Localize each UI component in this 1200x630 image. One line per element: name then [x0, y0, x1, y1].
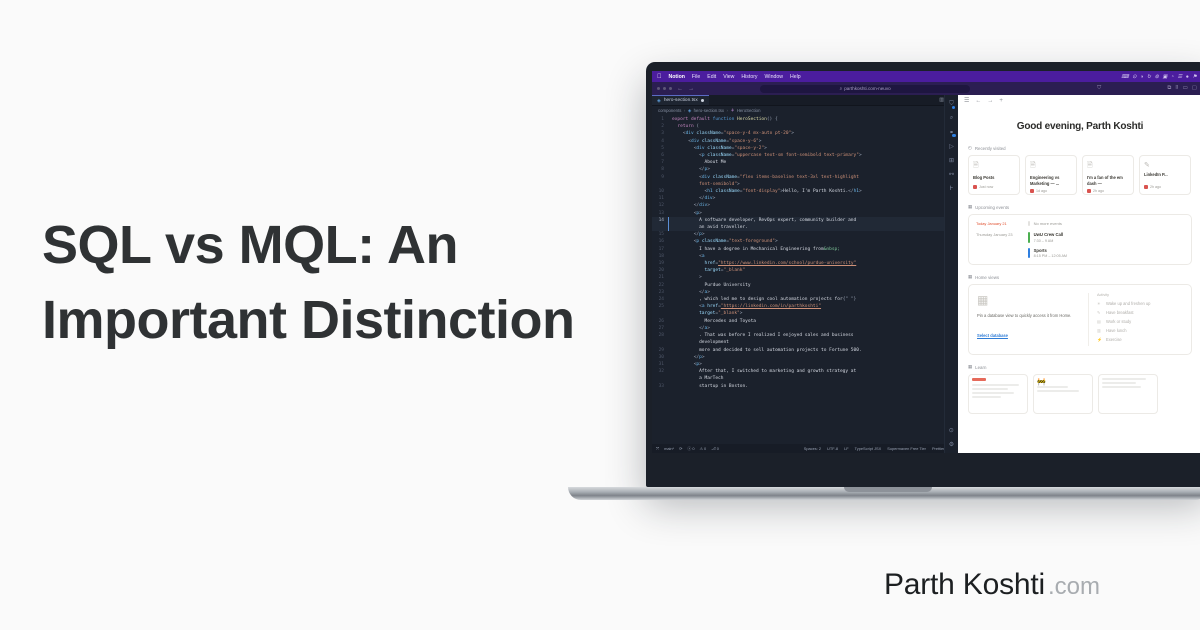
- line-number: 32: [652, 368, 669, 375]
- line-number: 23: [652, 289, 669, 296]
- line-number: 15: [652, 231, 669, 238]
- layout-icon-2[interactable]: ⌷: [1175, 85, 1178, 92]
- notion-greeting: Good evening, Parth Koshti: [968, 121, 1192, 132]
- react-file-icon: ◈: [688, 108, 691, 114]
- line-number: 29: [652, 347, 669, 354]
- event-color-bar: [1028, 248, 1030, 259]
- activity-icon: ⚡: [1097, 337, 1102, 342]
- code-line[interactable]: target="_blank">: [652, 310, 958, 317]
- list-item[interactable]: [1098, 374, 1158, 414]
- code-line-text: <p>: [669, 210, 958, 217]
- url-bar[interactable]: ⌕ parthkoshti.com-neuvo: [760, 85, 970, 93]
- activity-icon: ▥: [1097, 328, 1102, 333]
- editor-side-toolbar[interactable]: ⛉ ⌕ ⚭ ▷ ⊞ ⚯ Ͱ ⊙ ⚙: [944, 95, 958, 453]
- code-line[interactable]: 6 <p className="uppercase text-sm font-s…: [652, 152, 958, 159]
- search-icon[interactable]: ⌕: [950, 115, 953, 122]
- upcoming-events-label: Upcoming events: [975, 205, 1009, 210]
- code-line-text: . That was before I realized I enjoyed s…: [669, 332, 958, 339]
- code-line[interactable]: 18 <a: [652, 253, 958, 260]
- line-number: 11: [652, 195, 669, 202]
- layout-icon-4[interactable]: ▢: [1192, 85, 1197, 92]
- code-line-text: <p className="text-foreground">: [669, 238, 958, 245]
- minimize-icon[interactable]: [663, 87, 666, 90]
- learn-cards: 🚧: [968, 374, 1192, 414]
- line-number: 3: [652, 130, 669, 137]
- back-icon[interactable]: ←: [677, 86, 683, 92]
- page-icon: 🗎: [1087, 161, 1129, 172]
- supermaven-status[interactable]: Supermaven Free Tier: [887, 446, 926, 451]
- code-line[interactable]: 22 Purdue University: [652, 282, 958, 289]
- forward-icon[interactable]: →: [688, 86, 694, 92]
- list-item[interactable]: 🗎 Blog Posts Just now: [968, 155, 1020, 195]
- menu-item-window[interactable]: Window: [765, 74, 783, 80]
- code-line-text: <h1 className="font-display">Hello, I'm …: [669, 188, 958, 195]
- status-bar-right[interactable]: Spaces: 2 UTF-8 LF TypeScript JSX Superm…: [804, 446, 954, 451]
- list-item[interactable]: 🗎 Engineering vs Marketing — ... 1d ago: [1025, 155, 1077, 195]
- code-line[interactable]: 5 <div className="space-y-2">: [652, 145, 958, 152]
- code-line-text: About Me: [669, 159, 958, 166]
- line-number: 2: [652, 123, 669, 130]
- code-line[interactable]: 25 <a href="https://linkedin.com/in/part…: [652, 303, 958, 310]
- code-line[interactable]: an avid traveller.: [652, 224, 958, 231]
- code-line-text: a MarTech: [669, 375, 958, 382]
- list-item: No more events: [1028, 221, 1184, 226]
- status-bar[interactable]: ⤧ main* ⟳ ⓧ 0 ⚠ 0 ⎇ 0 Spaces: 2 UTF-8 LF…: [652, 444, 958, 453]
- line-number: [652, 310, 669, 317]
- menu-bar-tray[interactable]: ⌨ ⊙ ◑ ↻ ⊚ ▣ ◔ ☰ ● ⚑: [1121, 74, 1197, 80]
- line-number: 5: [652, 145, 669, 152]
- code-line-text: <a: [669, 253, 958, 260]
- activity-label-text: Have breakfast: [1106, 310, 1134, 315]
- avatar: [973, 185, 977, 189]
- avatar: [1144, 185, 1148, 189]
- graph-icon[interactable]: ⚯: [949, 171, 954, 178]
- symbol-icon: ⚘: [730, 108, 734, 114]
- code-line-text: startup in Boston.: [669, 383, 958, 390]
- home-views-empty-state: ▦ Pin a database view to quickly access …: [977, 293, 1080, 346]
- code-line[interactable]: font-semibold">: [652, 181, 958, 188]
- editor-tab-bar: ◈ hero-section.tsx ▥ ⋯: [652, 95, 958, 106]
- tray-icon-10[interactable]: ⚑: [1192, 74, 1197, 80]
- code-line[interactable]: development: [652, 339, 958, 346]
- line-number: 26: [652, 318, 669, 325]
- sidebar-toggle-icon[interactable]: ☰: [964, 97, 969, 104]
- home-views-header: ▦ Home views: [968, 274, 1192, 280]
- code-line-text: A software developer, RevOps expert, com…: [668, 217, 958, 224]
- gear-icon[interactable]: ⚙: [949, 441, 954, 448]
- macos-menu-bar:  Notion File Edit View History Window H…: [652, 71, 1200, 82]
- code-line-text: >: [669, 274, 958, 281]
- chrome-right-actions[interactable]: ⛉: [1097, 85, 1101, 92]
- code-line[interactable]: 19 href="https://www.linkedin.com/school…: [652, 260, 958, 267]
- tray-icon-7[interactable]: ◔: [1171, 74, 1174, 80]
- search-icon: ⌕: [840, 86, 843, 91]
- tray-icon-6[interactable]: ▣: [1163, 74, 1168, 80]
- line-number: 17: [652, 246, 669, 253]
- code-line[interactable]: 33 startup in Boston.: [652, 383, 958, 390]
- code-line-text: target="_blank": [669, 267, 958, 274]
- list-item[interactable]: ▤Work or study: [1097, 319, 1183, 324]
- line-number: 1: [652, 116, 669, 123]
- activity-label-text: Have lunch: [1106, 328, 1126, 333]
- code-line[interactable]: 32 After that, I switched to marketing a…: [652, 368, 958, 375]
- avatar: [1030, 189, 1034, 193]
- home-views-empty-text: Pin a database view to quickly access it…: [977, 313, 1080, 319]
- activity-label-text: Work or study: [1106, 319, 1131, 324]
- activity-icon: ▤: [1097, 319, 1102, 324]
- page-title: SQL vs MQL: An Important Distinction: [42, 208, 602, 357]
- database-icon: ▦: [977, 293, 1080, 307]
- run-debug-icon[interactable]: ▷: [949, 143, 954, 150]
- code-line-text: </div>: [669, 202, 958, 209]
- indentation-status[interactable]: Spaces: 2: [804, 446, 821, 451]
- line-number: 33: [652, 383, 669, 390]
- activity-icon: ☀: [1097, 301, 1102, 306]
- upcoming-events-panel: Today January 21 No more events Thursday…: [968, 214, 1192, 265]
- code-line-text: <p className="uppercase text-sm font-sem…: [669, 152, 958, 159]
- recently-visited-label: Recently visited: [975, 146, 1006, 151]
- code-line-text: </a>: [669, 289, 958, 296]
- event-date: Today January 21: [976, 221, 1022, 226]
- code-line-text: Mercedes and Toyota: [669, 318, 958, 325]
- page-icon: 🗎: [1030, 161, 1072, 172]
- card-time: Just now: [979, 185, 993, 189]
- activity-panel: Activity ☀Wake up and freshen up ✎Have b…: [1088, 293, 1183, 346]
- lock-icon[interactable]: ⛉: [1097, 85, 1101, 92]
- code-line-text: <div className="space-y-2">: [669, 145, 958, 152]
- line-number: 16: [652, 238, 669, 245]
- clock-icon: ◴: [968, 145, 972, 151]
- sync-icon[interactable]: ⟳: [679, 446, 682, 451]
- close-icon[interactable]: [657, 87, 660, 90]
- code-line-text: font-semibold">: [669, 181, 958, 188]
- code-line-text: <div className="flex items-baseline text…: [669, 174, 958, 181]
- recently-visited-header: ◴ Recently visited: [968, 145, 1192, 151]
- code-line[interactable]: 17 I have a degree in Mechanical Enginee…: [652, 246, 958, 253]
- event-items: No more events: [1028, 221, 1184, 226]
- menu-item-view[interactable]: View: [723, 74, 734, 80]
- line-number: 6: [652, 152, 669, 159]
- code-line[interactable]: 2 return (: [652, 123, 958, 130]
- laptop-mockup:  Notion File Edit View History Window H…: [568, 62, 1200, 512]
- breadcrumb-symbol[interactable]: HeroSection: [737, 108, 761, 113]
- line-number: 10: [652, 188, 669, 195]
- side-toolbar-bottom[interactable]: ⊙ ⚙: [949, 427, 954, 453]
- activity-label: Activity: [1097, 293, 1183, 297]
- card-meta: Just now: [973, 185, 1015, 189]
- laptop-screen:  Notion File Edit View History Window H…: [652, 71, 1200, 453]
- source-control-icon[interactable]: ⛉: [949, 101, 954, 108]
- code-line[interactable]: 1export default function HeroSection() {: [652, 116, 958, 123]
- git-branch-status[interactable]: main*: [664, 446, 674, 451]
- event-color-bar: [1028, 232, 1030, 243]
- code-line[interactable]: 7 About Me: [652, 159, 958, 166]
- code-line-text: </p>: [669, 231, 958, 238]
- home-views-panel: ▦ Pin a database view to quickly access …: [968, 284, 1192, 355]
- list-item[interactable]: ✎Have breakfast: [1097, 310, 1183, 315]
- notion-forward-icon[interactable]: →: [987, 98, 993, 104]
- menu-item-notion[interactable]: Notion: [669, 74, 685, 80]
- maximize-icon[interactable]: [669, 87, 672, 90]
- activity-label-text: Wake up and freshen up: [1106, 301, 1150, 306]
- event-items: UwU Crew Call 7:30 – 9 AM Sports 8:15 PM…: [1028, 232, 1184, 258]
- code-line[interactable]: 16 <p className="text-foreground">: [652, 238, 958, 245]
- code-line-text: <div className="space-y-6">: [669, 138, 958, 145]
- line-number: 25: [652, 303, 669, 310]
- react-file-icon: ◈: [657, 98, 661, 104]
- tray-icon-4[interactable]: ↻: [1147, 74, 1151, 80]
- list-item[interactable]: Sports 8:15 PM – 12:05 AM: [1028, 248, 1184, 259]
- card-time: 1d ago: [1036, 189, 1047, 193]
- code-line-text: export default function HeroSection() {: [669, 116, 958, 123]
- code-line[interactable]: 9 <div className="flex items-baseline te…: [652, 174, 958, 181]
- card-meta: 2h ago: [1144, 185, 1186, 189]
- code-line[interactable]: 26 Mercedes and Toyota: [652, 318, 958, 325]
- code-line[interactable]: 29 more and decided to sell automation p…: [652, 347, 958, 354]
- apple-logo-icon[interactable]: : [657, 74, 662, 80]
- code-line[interactable]: 10 <h1 className="font-display">Hello, I…: [652, 188, 958, 195]
- copilot-icon[interactable]: Ͱ: [950, 185, 954, 192]
- line-number: 14: [652, 217, 669, 224]
- code-line-text: development: [669, 339, 958, 346]
- line-number: 20: [652, 267, 669, 274]
- brand-tld: .com: [1048, 573, 1100, 601]
- notion-topbar: ☰ ← → +: [958, 95, 1200, 106]
- code-line[interactable]: 13 <p>: [652, 210, 958, 217]
- list-item[interactable]: ▥Have lunch: [1097, 328, 1183, 333]
- code-line[interactable]: 14 A software developer, RevOps expert, …: [652, 217, 958, 224]
- code-line[interactable]: 30 </p>: [652, 354, 958, 361]
- code-line[interactable]: 15 </p>: [652, 231, 958, 238]
- card-title: Engineering vs Marketing — ...: [1030, 175, 1072, 186]
- line-number: 21: [652, 274, 669, 281]
- code-line-text: After that, I switched to marketing and …: [669, 368, 958, 375]
- recently-visited-cards: 🗎 Blog Posts Just now 🗎 Engineering vs M…: [968, 155, 1192, 195]
- code-line[interactable]: 12 </div>: [652, 202, 958, 209]
- event-row: Thursday January 23 UwU Crew Call 7:30 –…: [976, 232, 1184, 258]
- event-row: Today January 21 No more events: [976, 221, 1184, 226]
- avatar: [1087, 189, 1091, 193]
- traffic-lights[interactable]: [657, 87, 672, 90]
- list-item[interactable]: 🗎 I'm a fan of the em dash — 2h ago: [1082, 155, 1134, 195]
- list-item[interactable]: ✎ LinkedIn P... 2h ago: [1139, 155, 1191, 195]
- tab-hero-section[interactable]: ◈ hero-section.tsx: [652, 95, 709, 105]
- code-line-text: </p>: [669, 354, 958, 361]
- layout-icon-1[interactable]: ⧉: [1167, 85, 1171, 92]
- line-number: 19: [652, 260, 669, 267]
- code-line[interactable]: 23 </a>: [652, 289, 958, 296]
- code-line-text: an avid traveller.: [668, 224, 958, 231]
- laptop-base: [568, 487, 1200, 500]
- tray-icon-5[interactable]: ⊚: [1155, 74, 1159, 80]
- tray-icon-2[interactable]: ⊙: [1132, 74, 1136, 80]
- prettier-status[interactable]: Prettier: [932, 446, 945, 451]
- window-chrome: ← → ⌕ parthkoshti.com-neuvo ⛉ ⧉ ⌷ ▭ ▢: [652, 82, 1200, 95]
- code-line[interactable]: 3 <div className="space-y-4 mx-auto pt-2…: [652, 130, 958, 137]
- card-title: Blog Posts: [973, 175, 1015, 181]
- list-item[interactable]: [968, 374, 1028, 414]
- breadcrumb-folder[interactable]: components: [658, 108, 681, 113]
- code-line[interactable]: 27 </a>: [652, 325, 958, 332]
- construction-icon: 🚧: [1037, 378, 1089, 386]
- breadcrumb-separator: ›: [727, 108, 728, 113]
- event-empty-text: No more events: [1034, 221, 1062, 226]
- code-line[interactable]: 31 <p>: [652, 361, 958, 368]
- event-color-bar: [1028, 221, 1030, 226]
- code-line[interactable]: 24 , which led me to design cool automat…: [652, 296, 958, 303]
- code-line-text: <div className="space-y-4 mx-auto pt-20"…: [669, 130, 958, 137]
- line-number: [652, 339, 669, 346]
- grid-icon: ▦: [968, 274, 972, 280]
- code-line-text: target="_blank">: [669, 310, 958, 317]
- page-icon: 🗎: [973, 161, 1015, 172]
- line-number: 12: [652, 202, 669, 209]
- line-number: [652, 181, 669, 188]
- code-line-text: Purdue University: [669, 282, 958, 289]
- layout-actions[interactable]: ⧉ ⌷ ▭ ▢: [1167, 85, 1197, 92]
- line-number: 7: [652, 159, 669, 166]
- calendar-icon: ▦: [968, 204, 972, 210]
- list-item[interactable]: UwU Crew Call 7:30 – 9 AM: [1028, 232, 1184, 243]
- nav-arrows[interactable]: ← →: [677, 86, 694, 92]
- event-date: Thursday January 23: [976, 232, 1022, 258]
- account-icon[interactable]: ⊙: [949, 427, 954, 434]
- event-title: Sports: [1034, 248, 1067, 253]
- line-number: 8: [652, 166, 669, 173]
- tray-icon-3[interactable]: ◑: [1140, 74, 1143, 80]
- code-line-text: </p>: [669, 166, 958, 173]
- event-time: 8:15 PM – 12:05 AM: [1034, 254, 1067, 258]
- menu-item-help[interactable]: Help: [790, 74, 801, 80]
- notion-body: Good evening, Parth Koshti ◴ Recently vi…: [958, 106, 1200, 414]
- extensions-icon[interactable]: ⊞: [949, 157, 954, 164]
- code-line-text: </div>: [669, 195, 958, 202]
- card-meta: 1d ago: [1030, 189, 1072, 193]
- code-line[interactable]: 11 </div>: [652, 195, 958, 202]
- code-line-text: <p>: [669, 361, 958, 368]
- code-line-text: I have a degree in Mechanical Engineerin…: [669, 246, 958, 253]
- list-item[interactable]: ⚡Exercise: [1097, 337, 1183, 342]
- branch-icon[interactable]: ⚭: [949, 129, 954, 136]
- brand-name: Parth Koshti: [884, 568, 1045, 602]
- vscode-window: ◈ hero-section.tsx ▥ ⋯ components › ◈ he…: [652, 95, 958, 453]
- line-number: 22: [652, 282, 669, 289]
- code-line[interactable]: 28 . That was before I realized I enjoye…: [652, 332, 958, 339]
- line-number: 31: [652, 361, 669, 368]
- activity-icon: ✎: [1097, 310, 1102, 315]
- remote-icon[interactable]: ⤧: [656, 446, 659, 451]
- warnings-count[interactable]: ⚠ 0: [699, 446, 706, 451]
- code-line-text: , which led me to design cool automation…: [669, 296, 958, 303]
- tray-icon-9[interactable]: ●: [1186, 74, 1189, 80]
- select-database-link[interactable]: Select database: [977, 333, 1008, 338]
- card-time: 2h ago: [1150, 185, 1161, 189]
- breadcrumb-separator: ›: [684, 108, 685, 113]
- pencil-icon: ✎: [1144, 161, 1186, 169]
- code-line[interactable]: a MarTech: [652, 375, 958, 382]
- menu-item-edit[interactable]: Edit: [707, 74, 716, 80]
- line-number: [652, 375, 669, 382]
- tab-label: hero-section.tsx: [664, 98, 698, 103]
- ports-count[interactable]: ⎇ 0: [711, 446, 719, 451]
- line-number: 18: [652, 253, 669, 260]
- code-line-text: return (: [669, 123, 958, 130]
- menu-item-file[interactable]: File: [692, 74, 700, 80]
- menu-item-history[interactable]: History: [741, 74, 757, 80]
- card-title: LinkedIn P...: [1144, 172, 1186, 178]
- problems-count[interactable]: ⓧ 0: [687, 446, 694, 452]
- event-title: UwU Crew Call: [1034, 232, 1064, 237]
- line-number: 4: [652, 138, 669, 145]
- card-time: 2h ago: [1093, 189, 1104, 193]
- layout-icon-3[interactable]: ▭: [1183, 85, 1188, 92]
- card-meta: 2h ago: [1087, 189, 1129, 193]
- line-number: 27: [652, 325, 669, 332]
- laptop-lid:  Notion File Edit View History Window H…: [646, 62, 1200, 487]
- book-icon: ▦: [968, 364, 972, 370]
- line-number: 9: [652, 174, 669, 181]
- code-line-text: href="https://www.linkedin.com/school/pu…: [669, 260, 958, 267]
- encoding-status[interactable]: UTF-8: [827, 446, 838, 451]
- code-line-text: </a>: [669, 325, 958, 332]
- code-line[interactable]: 8 </p>: [652, 166, 958, 173]
- url-text: parthkoshti.com-neuvo: [844, 86, 890, 91]
- language-mode-status[interactable]: TypeScript JSX: [855, 446, 882, 451]
- code-editor[interactable]: 1export default function HeroSection() {…: [652, 115, 958, 444]
- code-line-text: more and decided to sell automation proj…: [669, 347, 958, 354]
- event-time: 7:30 – 9 AM: [1034, 239, 1064, 243]
- unsaved-indicator-icon[interactable]: [701, 99, 704, 102]
- line-number: 30: [652, 354, 669, 361]
- notion-back-icon[interactable]: ←: [975, 98, 981, 104]
- line-number: [652, 224, 669, 231]
- card-title: I'm a fan of the em dash —: [1087, 175, 1129, 186]
- list-item[interactable]: ☀Wake up and freshen up: [1097, 301, 1183, 306]
- notion-new-page-icon[interactable]: +: [999, 98, 1003, 104]
- line-number: 13: [652, 210, 669, 217]
- tray-icon-8[interactable]: ☰: [1178, 74, 1183, 80]
- code-line-text: <a href="https://linkedin.com/in/parthko…: [669, 303, 958, 310]
- code-line[interactable]: 4 <div className="space-y-6">: [652, 138, 958, 145]
- activity-label-text: Exercise: [1106, 337, 1122, 342]
- code-line[interactable]: 20 target="_blank": [652, 267, 958, 274]
- eol-status[interactable]: LF: [844, 446, 849, 451]
- breadcrumb-file[interactable]: hero-section.tsx: [694, 108, 724, 113]
- brand-logo: Parth Koshti .com: [884, 568, 1100, 602]
- list-item[interactable]: 🚧: [1033, 374, 1093, 414]
- code-line[interactable]: 21 >: [652, 274, 958, 281]
- tray-icon-1[interactable]: ⌨: [1121, 74, 1129, 80]
- line-number: 24: [652, 296, 669, 303]
- line-number: 28: [652, 332, 669, 339]
- breadcrumb[interactable]: components › ◈ hero-section.tsx › ⚘ Hero…: [652, 106, 958, 115]
- notion-window: ☰ ← → + Good evening, Parth Koshti ◴ Rec…: [958, 95, 1200, 453]
- learn-header: ▦ Learn: [968, 364, 1192, 370]
- learn-label: Learn: [975, 365, 986, 370]
- upcoming-events-header: ▦ Upcoming events: [968, 204, 1192, 210]
- home-views-label: Home views: [975, 275, 999, 280]
